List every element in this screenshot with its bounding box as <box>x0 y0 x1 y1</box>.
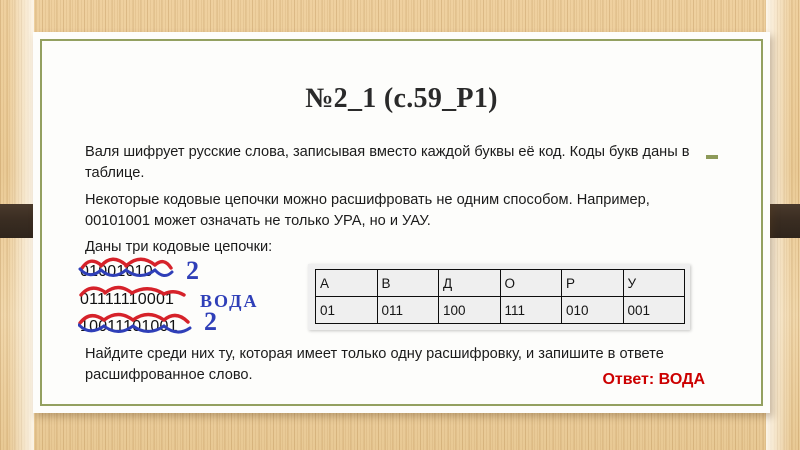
code-chains-group: 01001010 2 01111110001 ВОДА <box>80 260 315 346</box>
code-table: А В Д О Р У 01 011 100 111 010 <box>315 269 685 324</box>
answer-text: Ответ: ВОДА <box>513 371 705 389</box>
paragraph-intro: Валя шифрует русские слова, записывая вм… <box>85 142 705 184</box>
table-cell-code: 010 <box>562 297 624 324</box>
table-cell-code: 100 <box>439 297 501 324</box>
code-chain-digits: 01111110001 <box>80 291 174 309</box>
code-chain-note: 2 <box>204 309 217 335</box>
olive-dash-mark <box>706 155 718 159</box>
table-cell-code: 011 <box>377 297 439 324</box>
paragraph-example: Некоторые кодовые цепочки можно расшифро… <box>85 190 705 232</box>
code-chain-digits: 10011101001 <box>80 318 178 336</box>
code-chain-digits: 01001010 <box>80 263 153 281</box>
table-row-letters: А В Д О Р У <box>316 270 685 297</box>
table-cell-letter: А <box>316 270 378 297</box>
code-table-container: А В Д О Р У 01 011 100 111 010 <box>308 264 690 330</box>
page-title: №2_1 (с.59_Р1) <box>33 83 770 115</box>
table-cell-code: 01 <box>316 297 378 324</box>
slide-card: №2_1 (с.59_Р1) Валя шифрует русские слов… <box>33 32 770 413</box>
table-cell-code: 111 <box>500 297 562 324</box>
code-chain-note: 2 <box>186 258 199 284</box>
table-row-codes: 01 011 100 111 010 001 <box>316 297 685 324</box>
table-cell-letter: О <box>500 270 562 297</box>
table-cell-letter: У <box>623 270 685 297</box>
table-cell-letter: Д <box>439 270 501 297</box>
paragraph-chains-label: Даны три кодовые цепочки: <box>85 237 705 258</box>
slide-content: №2_1 (с.59_Р1) Валя шифрует русские слов… <box>33 32 770 413</box>
table-cell-letter: В <box>377 270 439 297</box>
slide-background: №2_1 (с.59_Р1) Валя шифрует русские слов… <box>0 0 800 450</box>
table-cell-code: 001 <box>623 297 685 324</box>
table-cell-letter: Р <box>562 270 624 297</box>
